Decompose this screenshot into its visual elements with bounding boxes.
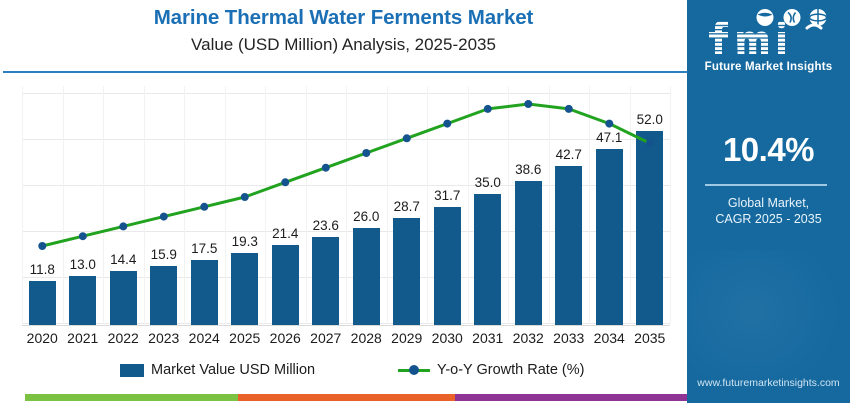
brand-panel: Future Market Insights 10.4% Global Mark… [687, 0, 850, 403]
page-subtitle: Value (USD Million) Analysis, 2025-2035 [0, 35, 687, 55]
cagr-divider [705, 184, 827, 186]
growth-line-marker [605, 120, 613, 128]
growth-line-marker [241, 193, 249, 201]
fmi-logo-tagline: Future Market Insights [687, 61, 850, 73]
chart-legend: Market Value USD Million Y-o-Y Growth Ra… [0, 360, 687, 386]
growth-line-marker [524, 100, 532, 108]
cagr-description-line2: CAGR 2025 - 2035 [687, 212, 850, 226]
x-axis-labels: 2020202120222023202420252026202720282029… [22, 330, 670, 352]
chart-header: Marine Thermal Water Ferments Market Val… [0, 0, 687, 72]
plot-area: 11.813.014.415.917.519.321.423.626.028.7… [22, 86, 670, 326]
cagr-description-line1: Global Market, [687, 196, 850, 210]
bottom-color-strip [0, 392, 687, 403]
growth-line-path [42, 104, 650, 246]
growth-line-marker [484, 105, 492, 113]
growth-line-marker [79, 232, 87, 240]
legend-line-marker [409, 365, 419, 375]
legend-bar-swatch-icon [120, 364, 144, 377]
x-axis-line [22, 325, 670, 326]
legend-bar-label: Market Value USD Million [151, 362, 315, 378]
website-url: www.futuremarketinsights.com [687, 377, 850, 389]
growth-line-marker [362, 149, 370, 157]
fmi-logo: Future Market Insights [687, 8, 850, 74]
growth-line-marker [322, 164, 330, 172]
growth-line-marker [160, 213, 168, 221]
figure-arms [807, 25, 821, 28]
fmi-logo-icon [703, 8, 835, 60]
strip-segment-purple [455, 394, 687, 401]
growth-line-series [22, 86, 670, 326]
chart-infographic: Marine Thermal Water Ferments Market Val… [0, 0, 850, 403]
strip-segment-orange [238, 394, 455, 401]
growth-line-marker [200, 203, 208, 211]
cagr-value: 10.4% [687, 131, 850, 169]
header-divider [3, 71, 687, 73]
growth-line-marker [38, 242, 46, 250]
strip-segment-green [25, 394, 238, 401]
legend-line-label: Y-o-Y Growth Rate (%) [437, 362, 584, 378]
growth-line-marker [403, 134, 411, 142]
page-title: Marine Thermal Water Ferments Market [0, 6, 687, 30]
fmi-wordmark [709, 21, 785, 54]
growth-line-marker [565, 105, 573, 113]
x-axis-tick-label: 2035 [622, 330, 678, 346]
growth-line-marker [646, 139, 654, 147]
growth-line-marker [119, 222, 127, 230]
growth-line-marker [443, 120, 451, 128]
chart-panel: Marine Thermal Water Ferments Market Val… [0, 0, 687, 403]
growth-line-marker [281, 178, 289, 186]
legend-item-growth-rate: Y-o-Y Growth Rate (%) [398, 362, 584, 378]
globe-icons [756, 9, 826, 26]
legend-item-market-value: Market Value USD Million [120, 362, 315, 378]
legend-line-swatch-icon [398, 364, 430, 376]
